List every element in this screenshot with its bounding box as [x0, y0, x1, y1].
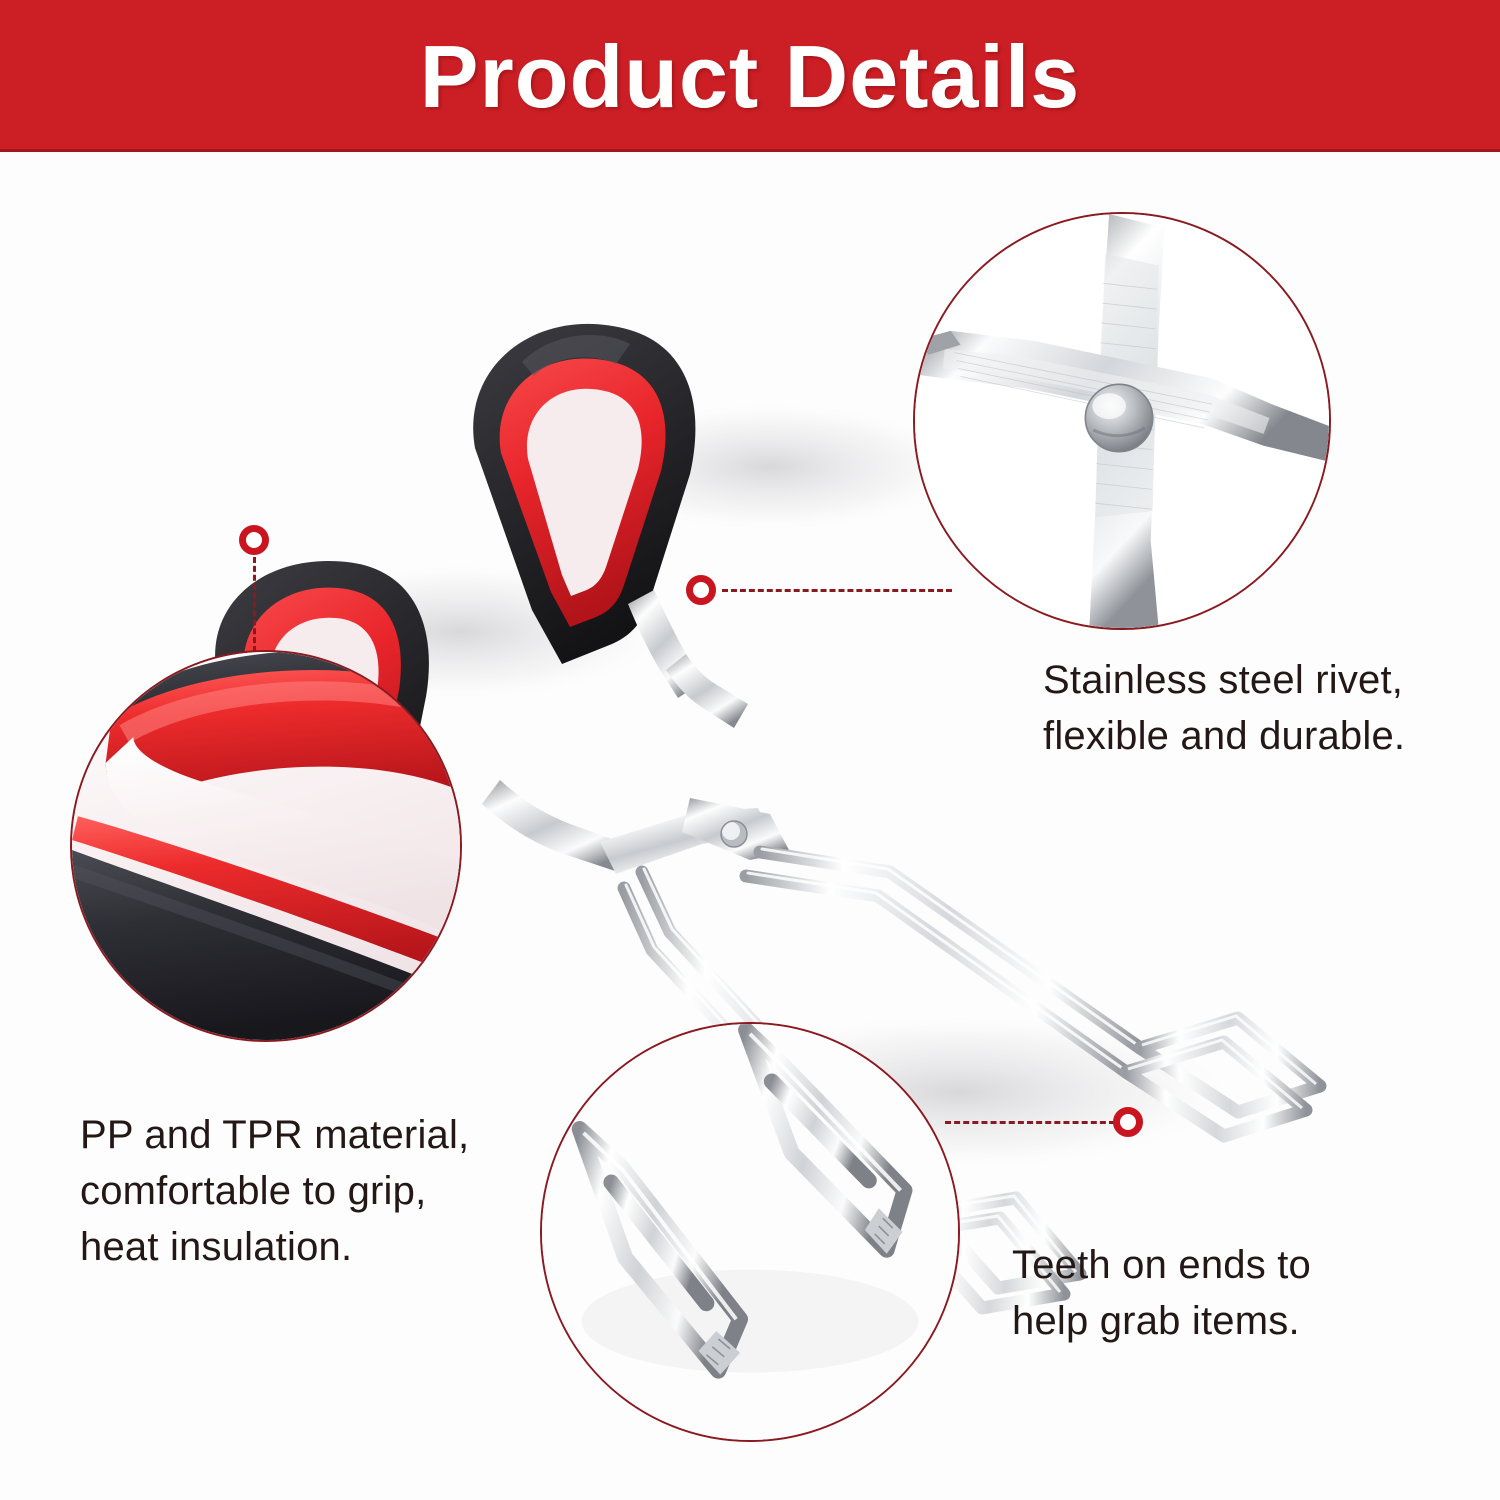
page-title: Product Details [0, 22, 1500, 132]
header-banner: Product Details [0, 0, 1500, 152]
teeth-closeup-image [542, 1024, 958, 1440]
grip-material-closeup-image [72, 652, 460, 1040]
detail-circle-teeth [540, 1022, 960, 1442]
caption-teeth: Teeth on ends to help grab items. [1012, 1237, 1412, 1349]
connector-line-grip [253, 557, 256, 652]
callout-marker-grip[interactable] [239, 525, 269, 555]
caption-grip: PP and TPR material, comfortable to grip… [80, 1107, 510, 1275]
connector-line-rivet [722, 589, 952, 592]
metal-strut-lower [482, 780, 626, 872]
caption-rivet: Stainless steel rivet, flexible and dura… [1043, 652, 1473, 764]
rivet-closeup-image [915, 214, 1329, 628]
content-stage: Stainless steel rivet, flexible and dura… [0, 152, 1500, 1500]
detail-circle-rivet [913, 212, 1331, 630]
product-details-infographic: Product Details [0, 0, 1500, 1500]
connector-line-teeth [945, 1121, 1115, 1124]
callout-marker-rivet[interactable] [686, 575, 716, 605]
callout-marker-teeth[interactable] [1113, 1107, 1143, 1137]
rivet-cross-joint [600, 798, 790, 874]
detail-circle-grip [70, 650, 462, 1042]
